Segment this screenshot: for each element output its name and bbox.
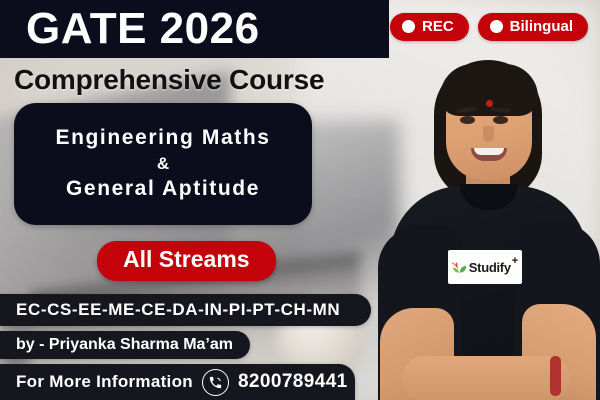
all-streams-label: All Streams: [123, 246, 250, 272]
instructor-photo: Studify +: [372, 56, 600, 400]
record-dot-icon: [402, 20, 415, 33]
bracelet: [550, 356, 561, 396]
badge-label-bilingual: Bilingual: [510, 19, 573, 34]
eye-left: [460, 116, 475, 124]
gate-2026-course-banner: Studify + GATE 2026 REC Bilingual Compre…: [0, 0, 600, 400]
badge-group: REC Bilingual: [390, 13, 588, 41]
course-subject-separator: &: [157, 153, 169, 176]
crossed-forearms: [402, 356, 570, 400]
studify-logo: Studify +: [448, 250, 522, 284]
stream-codes-strip: EC-CS-EE-ME-CE-DA-IN-PI-PT-CH-MN: [0, 294, 371, 326]
nose: [483, 126, 494, 142]
contact-phone-number[interactable]: 8200789441: [238, 371, 348, 393]
stream-codes-text: EC-CS-EE-ME-CE-DA-IN-PI-PT-CH-MN: [16, 300, 340, 320]
record-dot-icon: [490, 20, 503, 33]
hair-front: [440, 64, 538, 116]
studify-logo-plus: +: [512, 256, 518, 267]
bindi: [486, 100, 493, 107]
page-subtitle: Comprehensive Course: [14, 62, 324, 97]
status-badge-rec[interactable]: REC: [390, 13, 469, 41]
badge-label-rec: REC: [422, 19, 454, 34]
teeth: [474, 148, 504, 155]
contact-label: For More Information: [16, 372, 193, 392]
course-subject-primary: Engineering Maths: [55, 124, 270, 152]
phone-icon: [202, 369, 229, 396]
status-badge-bilingual[interactable]: Bilingual: [478, 13, 588, 41]
instructor-name: by - Priyanka Sharma Ma’am: [16, 336, 233, 354]
course-subject-secondary: General Aptitude: [66, 175, 260, 203]
contact-strip: For More Information 8200789441: [0, 364, 355, 400]
course-title-card: Engineering Maths & General Aptitude: [14, 103, 312, 225]
title-bar: GATE 2026: [0, 0, 389, 58]
instructor-strip: by - Priyanka Sharma Ma’am: [0, 331, 250, 359]
page-title: GATE 2026: [26, 7, 260, 51]
leaf-icon: [452, 260, 467, 275]
eye-right: [493, 116, 508, 124]
all-streams-button[interactable]: All Streams: [97, 241, 276, 281]
studify-logo-text: Studify: [469, 261, 511, 274]
